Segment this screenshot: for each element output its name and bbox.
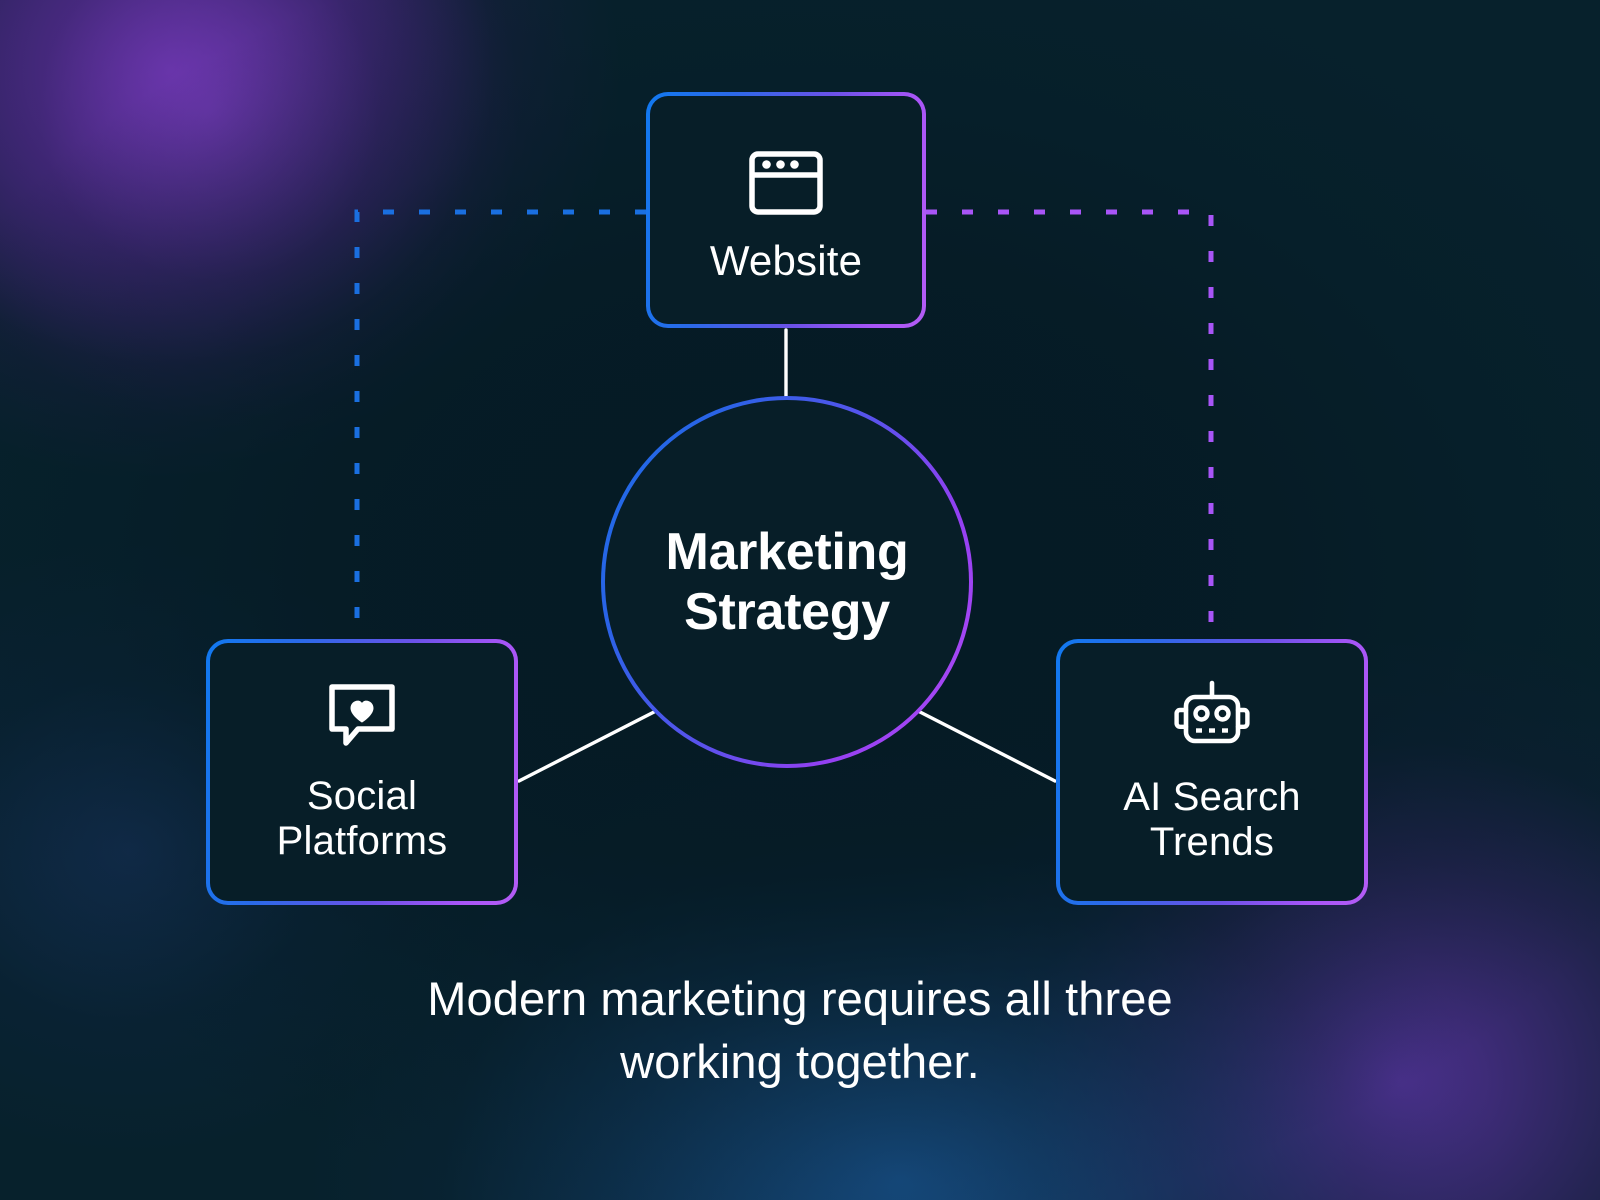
node-card-ai-search-trends-inner: AI Search Trends (1060, 643, 1364, 901)
node-label-ai-search-trends: AI Search Trends (1123, 775, 1300, 865)
node-card-website-inner: Website (650, 96, 922, 324)
background-glow-purple-top-left (0, 0, 620, 480)
speech-bubble-heart-icon (326, 681, 398, 756)
node-label-website: Website (710, 237, 862, 284)
connector-social-to-hub (519, 712, 654, 781)
robot-head-icon (1172, 680, 1252, 757)
diagram-caption: Modern marketing requires all three work… (0, 968, 1600, 1093)
node-card-ai-search-trends[interactable]: AI Search Trends (1056, 639, 1368, 905)
node-card-website[interactable]: Website (646, 92, 926, 328)
diagram-canvas: Website Social Platforms (0, 0, 1600, 1200)
node-card-social-platforms-inner: Social Platforms (210, 643, 514, 901)
hub-label: Marketing Strategy (666, 522, 909, 643)
node-card-social-platforms[interactable]: Social Platforms (206, 639, 518, 905)
marketing-strategy-hub[interactable]: Marketing Strategy (601, 396, 973, 768)
background-glow-purple-top-left-core (0, 0, 520, 420)
connector-ai-to-hub (920, 712, 1055, 781)
marketing-strategy-hub-inner: Marketing Strategy (605, 400, 969, 764)
browser-window-icon (748, 148, 824, 223)
node-label-social-platforms: Social Platforms (277, 774, 448, 864)
